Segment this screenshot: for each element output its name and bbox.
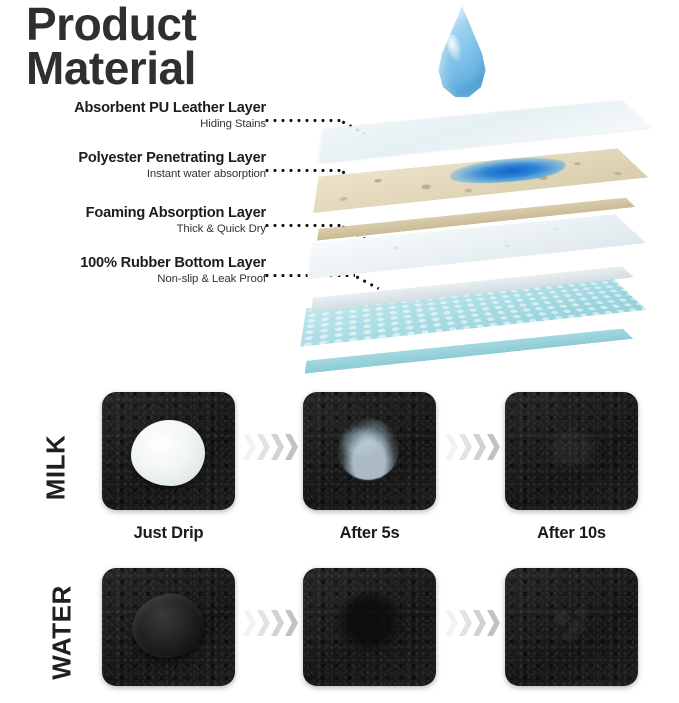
progress-arrow-milk-2 xyxy=(445,434,500,460)
water-residue-stain xyxy=(336,592,402,652)
layer-heading: Absorbent PU Leather Layer xyxy=(0,100,266,116)
water-dry-surface xyxy=(541,598,599,650)
caption-just-drip: Just Drip xyxy=(102,524,235,543)
chevron-right-icon xyxy=(285,434,298,460)
layer-subtitle: Hiding Stains xyxy=(0,118,266,130)
progress-arrow-water-1 xyxy=(243,610,298,636)
infographic-root: Product Material Absorbent PU Leather La… xyxy=(0,0,679,682)
chevron-right-icon xyxy=(271,610,284,636)
chevron-right-icon xyxy=(459,434,472,460)
chevron-right-icon xyxy=(257,610,270,636)
row-label-milk: MILK xyxy=(41,408,72,528)
layer-label-pu-leather: Absorbent PU Leather Layer Hiding Stains xyxy=(0,100,266,130)
layer-label-foaming: Foaming Absorption Layer Thick & Quick D… xyxy=(0,205,266,235)
test-photo-water-just-drip xyxy=(102,568,235,686)
progress-arrow-milk-1 xyxy=(243,434,298,460)
chevron-right-icon xyxy=(257,434,270,460)
chevron-right-icon xyxy=(271,434,284,460)
chevron-right-icon xyxy=(445,434,458,460)
absorption-test-grid: MILK WATER Just Drip After 5s After 10s xyxy=(0,372,679,682)
layer-label-polyester: Polyester Penetrating Layer Instant wate… xyxy=(0,150,266,180)
test-photo-water-after-10s xyxy=(505,568,638,686)
milk-droplet-stain xyxy=(131,420,205,486)
test-photo-milk-after-5s xyxy=(303,392,436,510)
milk-residue-stain xyxy=(337,418,399,480)
chevron-right-icon xyxy=(459,610,472,636)
chevron-right-icon xyxy=(487,434,500,460)
water-droplet-stain xyxy=(128,589,208,662)
chevron-right-icon xyxy=(445,610,458,636)
test-photo-milk-after-10s xyxy=(505,392,638,510)
chevron-right-icon xyxy=(487,610,500,636)
layer-heading: Polyester Penetrating Layer xyxy=(0,150,266,166)
layer-subtitle: Thick & Quick Dry xyxy=(0,223,266,235)
test-photo-water-after-5s xyxy=(303,568,436,686)
chevron-right-icon xyxy=(473,434,486,460)
layer-heading: 100% Rubber Bottom Layer xyxy=(0,255,266,271)
milk-dry-surface xyxy=(545,426,599,472)
chevron-right-icon xyxy=(285,610,298,636)
caption-after-5s: After 5s xyxy=(303,524,436,543)
title-line-2: Material xyxy=(26,46,196,90)
chevron-right-icon xyxy=(243,610,256,636)
layer-heading: Foaming Absorption Layer xyxy=(0,205,266,221)
layer-subtitle: Instant water absorption xyxy=(0,168,266,180)
progress-arrow-water-2 xyxy=(445,610,500,636)
test-photo-milk-just-drip xyxy=(102,392,235,510)
caption-after-10s: After 10s xyxy=(505,524,638,543)
layer-subtitle: Non-slip & Leak Proof xyxy=(0,273,266,285)
layer-label-rubber: 100% Rubber Bottom Layer Non-slip & Leak… xyxy=(0,255,266,285)
chevron-right-icon xyxy=(473,610,486,636)
exploded-layer-diagram xyxy=(300,0,679,372)
chevron-right-icon xyxy=(243,434,256,460)
page-title: Product Material xyxy=(26,2,196,90)
